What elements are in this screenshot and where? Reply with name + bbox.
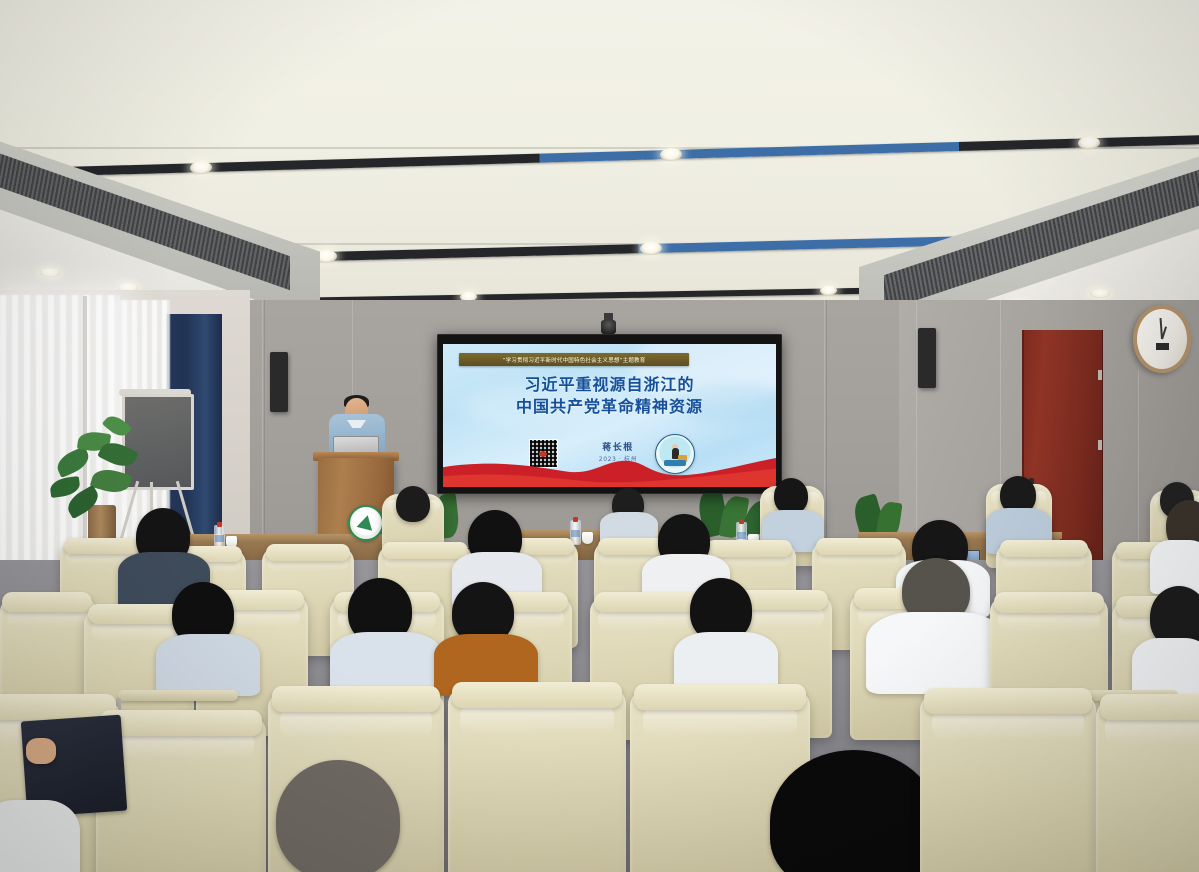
chair-headrest: [64, 538, 140, 554]
paper-cup: [582, 532, 593, 544]
chair-headrest: [266, 544, 350, 561]
attendee-shoulders: [866, 612, 1006, 694]
chair-headrest: [272, 686, 440, 712]
chair-headrest: [994, 592, 1104, 613]
downlight-icon: [820, 285, 837, 295]
slide-title-line2: 中国共产党革命精神资源: [443, 396, 776, 418]
chair: [920, 694, 1096, 872]
chair-headrest: [594, 592, 700, 612]
chair-headrest: [1000, 540, 1088, 557]
downlight-icon: [40, 268, 60, 277]
chair: [448, 688, 626, 872]
chair-headrest: [100, 710, 262, 736]
presentation-slide: “学习贯彻习近平新时代中国特色社会主义思想”主题教育 习近平重视源自浙江的 中国…: [443, 344, 776, 487]
slide-title: 习近平重视源自浙江的 中国共产党革命精神资源: [443, 374, 776, 417]
chair-headrest: [452, 682, 622, 708]
attendee-head: [276, 760, 400, 872]
chair: [1096, 700, 1199, 872]
chair-headrest: [2, 592, 92, 612]
whiteboard: [122, 394, 194, 490]
chair-headrest: [382, 542, 468, 559]
attendee-head: [774, 478, 808, 514]
attendee-hand: [26, 738, 56, 764]
chair-armrest: [118, 690, 238, 701]
slide-theme-banner: “学习贯彻习近平新时代中国特色社会主义思想”主题教育: [459, 353, 689, 366]
chair-headrest: [634, 684, 806, 710]
clock-date-window: [1156, 343, 1169, 350]
table-emblem-sign: [348, 505, 384, 541]
wall-clock: [1133, 305, 1191, 373]
downlight-icon: [1090, 289, 1110, 298]
slide-banner-text: “学习贯彻习近平新时代中国特色社会主义思想”主题教育: [503, 356, 646, 364]
slide-title-line1: 习近平重视源自浙江的: [524, 375, 694, 394]
attendee-shoulders: [0, 800, 80, 872]
chair-headrest: [924, 688, 1092, 714]
ceiling-speaker: [918, 328, 936, 388]
emblem-mark-icon: [357, 514, 376, 531]
screen-camera-icon: [601, 320, 616, 334]
clock-minute-hand: [1160, 318, 1163, 339]
slide-red-wave-graphic: [443, 447, 776, 487]
chair-headrest: [706, 540, 792, 557]
chair-headrest: [816, 538, 902, 555]
chair-headrest: [1100, 694, 1199, 720]
ceiling-speaker: [270, 352, 288, 412]
attendee-head: [396, 486, 430, 522]
conference-hall-photo: “学习贯彻习近平新时代中国特色社会主义思想”主题教育 习近平重视源自浙江的 中国…: [0, 0, 1199, 872]
attendee-shoulders: [156, 634, 260, 696]
